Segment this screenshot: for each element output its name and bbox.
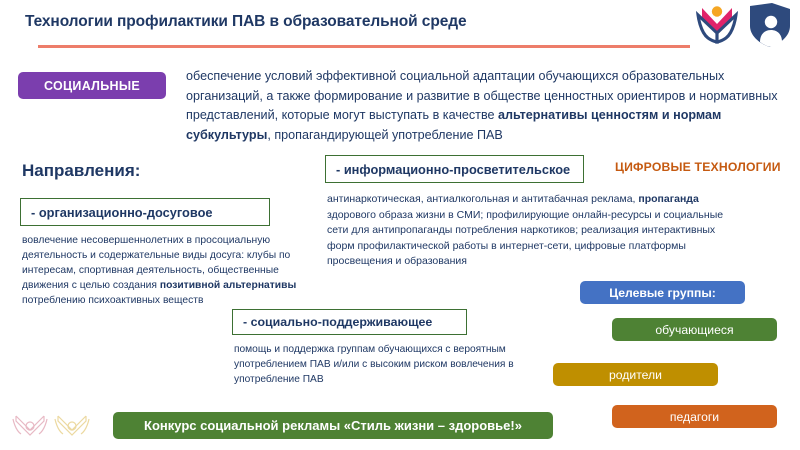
informational-text-part-1: антинаркотическая, антиалкогольная и ант…: [327, 193, 638, 205]
header-divider: [38, 45, 690, 48]
page-title: Технологии профилактики ПАВ в образовате…: [25, 13, 466, 31]
direction-box-informational: - информационно-просветительское: [325, 155, 584, 183]
direction-text-organizational: вовлечение несовершеннолетних в просоциа…: [22, 233, 310, 308]
slide-header: Технологии профилактики ПАВ в образовате…: [0, 0, 800, 56]
target-group-students: обучающиеся: [612, 318, 777, 341]
directions-heading: Направления:: [22, 161, 140, 181]
supportive-text-part-1: помощь и поддержка группам обучающихся с…: [234, 344, 514, 385]
direction-text-supportive: помощь и поддержка группам обучающихся с…: [234, 342, 524, 387]
slide-root: Технологии профилактики ПАВ в образовате…: [0, 0, 800, 450]
organizational-text-part-2: потреблению психоактивных веществ: [22, 295, 203, 306]
ministry-education-shield-logo: [694, 2, 794, 48]
organizational-text-bold: позитивной альтернативы: [160, 280, 296, 291]
target-group-teachers: педагоги: [612, 405, 777, 428]
direction-box-organizational: - организационно-досуговое: [20, 198, 270, 226]
direction-text-informational: антинаркотическая, антиалкогольная и ант…: [327, 192, 739, 270]
decorative-logo-outlines: [6, 408, 116, 446]
bottom-banner-contest: Конкурс социальной рекламы «Стиль жизни …: [113, 412, 553, 439]
target-group-parents: родители: [553, 363, 718, 386]
informational-text-bold: пропаганда: [638, 193, 698, 205]
intro-text-part-2: , пропагандирующей употребление ПАВ: [267, 128, 503, 142]
intro-paragraph: обеспечение условий эффективной социальн…: [186, 67, 794, 145]
target-groups-heading: Целевые группы:: [580, 281, 745, 304]
digital-technologies-label: ЦИФРОВЫЕ ТЕХНОЛОГИИ: [615, 160, 781, 174]
direction-box-supportive: - социально-поддерживающее: [232, 309, 467, 335]
status-badge-social: СОЦИАЛЬНЫЕ: [18, 72, 166, 99]
informational-text-part-2: здорового образа жизни в СМИ; профилирую…: [327, 209, 723, 268]
